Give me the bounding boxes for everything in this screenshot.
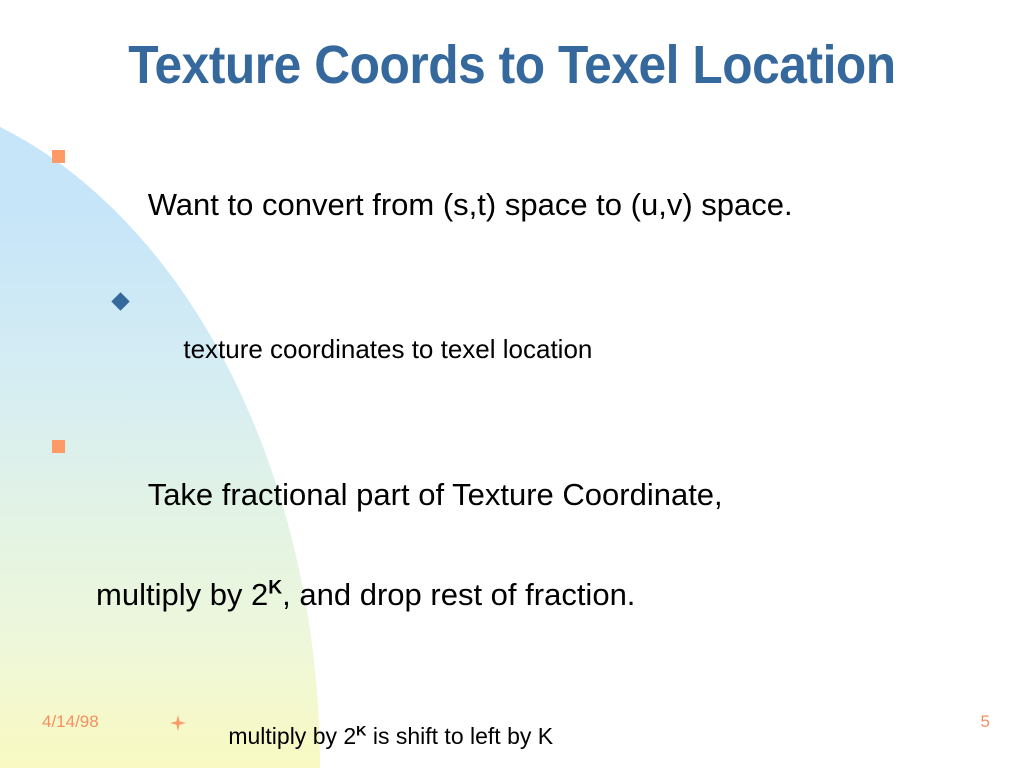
page-title: Texture Coords to Texel Location xyxy=(41,36,983,94)
exponent-k: K xyxy=(356,723,366,739)
footer-page-number: 5 xyxy=(981,712,990,732)
bullet-text-post: is shift to left by K xyxy=(366,723,553,749)
square-bullet-icon xyxy=(52,440,65,453)
bullet-text-pre: multiply by 2 xyxy=(228,723,356,749)
bullet-level1: Want to convert from (s,t) space to (u,v… xyxy=(0,130,1024,280)
bullet-level1: Take fractional part of Texture Coordina… xyxy=(0,420,1024,570)
bullet-text-post: , and drop rest of fraction. xyxy=(282,577,635,612)
square-bullet-icon xyxy=(52,150,65,163)
slide: Texture Coords to Texel Location Want to… xyxy=(0,0,1024,768)
bullet-text-pre: multiply by 2 xyxy=(96,577,268,612)
bullet-level1-text: Take fractional part of Texture Coordina… xyxy=(148,477,723,512)
exponent-k: K xyxy=(268,578,282,599)
bullet-level1-continuation: multiply by 2K, and drop rest of fractio… xyxy=(0,570,1024,670)
bullet-level2: texture coordinates to texel location xyxy=(0,280,1024,418)
footer-date: 4/14/98 xyxy=(42,712,99,732)
bullet-level1-text: Want to convert from (s,t) space to (u,v… xyxy=(148,187,793,222)
bullet-level3: multiply by 2K is shift to left by K xyxy=(0,670,1024,768)
star-bullet-icon xyxy=(170,683,186,699)
diamond-bullet-icon xyxy=(111,292,129,310)
slide-body: Want to convert from (s,t) space to (u,v… xyxy=(0,128,1024,768)
bullet-level2-text: texture coordinates to texel location xyxy=(183,334,592,364)
